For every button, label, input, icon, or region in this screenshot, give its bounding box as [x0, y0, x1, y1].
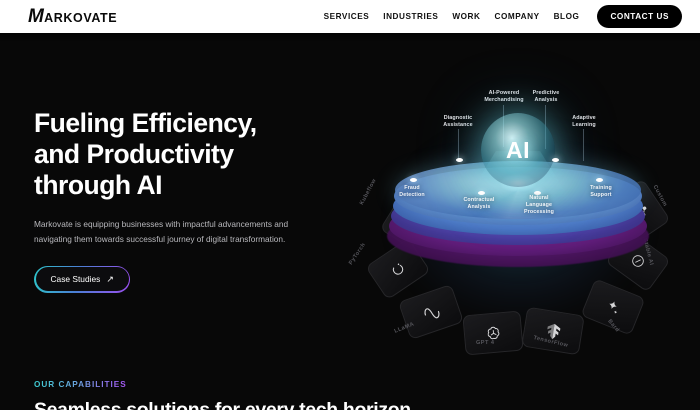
tech-segment-tensorflow[interactable]: [521, 307, 585, 356]
tech-label-pytorch: PyTorch: [348, 242, 367, 266]
main-navigation: SERVICES INDUSTRIES WORK COMPANY BLOG CO…: [324, 0, 682, 33]
case-studies-button[interactable]: Case Studies ↗: [34, 266, 130, 293]
capabilities-section: OUR CAPABILITIES Seamless solutions for …: [34, 374, 411, 410]
nav-item-company[interactable]: COMPANY: [494, 12, 539, 21]
page-title: Fueling Efficiency, and Productivity thr…: [34, 108, 334, 201]
hero-copy-block: Fueling Efficiency, and Productivity thr…: [34, 108, 334, 293]
site-header: MARKOVATE SERVICES INDUSTRIES WORK COMPA…: [0, 0, 700, 33]
llama-meta-icon: [419, 300, 443, 324]
ai-core-label: AI: [506, 139, 530, 162]
nav-item-services[interactable]: SERVICES: [324, 12, 370, 21]
arrow-up-right-icon: ↗: [106, 275, 114, 284]
capabilities-eyebrow: OUR CAPABILITIES: [34, 380, 127, 389]
hero-subcopy: Markovate is equipping businesses with i…: [34, 217, 296, 248]
disc-label-natural-language-processing: Natural Language Processing: [514, 195, 564, 215]
disc-label-training-support: Training Support: [578, 185, 624, 199]
node-dot: [596, 178, 603, 182]
node-dot: [552, 158, 559, 162]
ai-core-sphere: AI: [481, 113, 555, 187]
nav-item-work[interactable]: WORK: [452, 12, 480, 21]
case-studies-button-inner: Case Studies ↗: [36, 267, 129, 291]
outer-label-diagnostic-assistance: Diagnostic Assistance: [428, 115, 488, 129]
logo-wordmark: ARKOVATE: [44, 11, 117, 25]
tech-segment-gpt4[interactable]: [462, 311, 523, 356]
case-studies-label: Case Studies: [51, 274, 101, 284]
layered-disc-stack: AI Fraud Detection Contractual Analysis …: [382, 161, 654, 281]
outer-label-predictive-analysis: Predictive Analysis: [518, 90, 574, 104]
ai-capability-visual: Diagnostic Assistance AI-Powered Merchan…: [340, 53, 700, 353]
hero-section: Fueling Efficiency, and Productivity thr…: [0, 33, 700, 410]
outer-label-adaptive-learning: Adaptive Learning: [555, 115, 613, 129]
node-dot: [478, 191, 485, 195]
node-dot: [456, 158, 463, 162]
logo-mark: M: [28, 7, 44, 26]
markovate-logo[interactable]: MARKOVATE: [28, 7, 117, 26]
disc-label-contractual-analysis: Contractual Analysis: [453, 197, 505, 211]
tech-label-kubeflow: Kubeflow: [359, 178, 378, 206]
nav-item-industries[interactable]: INDUSTRIES: [383, 12, 438, 21]
tech-segment-llama[interactable]: [398, 284, 464, 340]
capabilities-heading: Seamless solutions for every tech horizo…: [34, 399, 411, 410]
contact-us-button[interactable]: CONTACT US: [597, 5, 682, 28]
node-dot: [410, 178, 417, 182]
nav-item-blog[interactable]: BLOG: [554, 12, 580, 21]
disc-label-fraud-detection: Fraud Detection: [390, 185, 434, 199]
bard-icon: [603, 297, 624, 318]
tech-label-gpt4: GPT 4: [476, 340, 494, 346]
